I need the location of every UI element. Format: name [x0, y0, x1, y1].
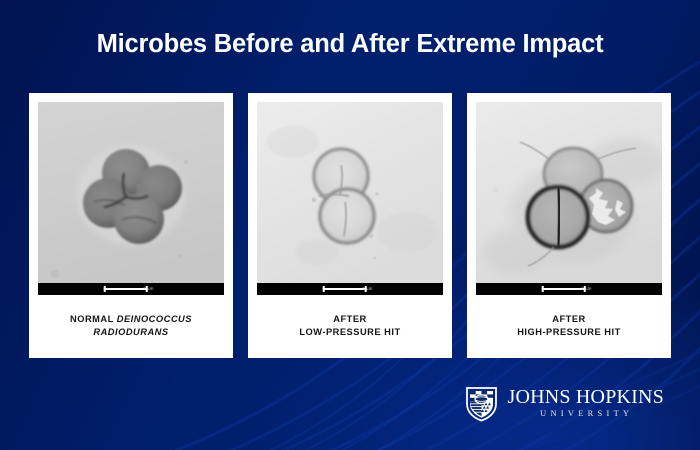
scalebar-normal: 1 µm: [38, 283, 224, 295]
jhu-shield-crest-icon: [465, 385, 498, 422]
caption-line-2: HIGH-PRESSURE HIT: [517, 326, 621, 339]
jhu-logo-wordmark: JOHNS HOPKINS UNIVERSITY: [507, 387, 664, 420]
caption-prefix: NORMAL: [70, 314, 117, 324]
caption-line-2: LOW-PRESSURE HIT: [299, 326, 400, 339]
micrograph-normal: [38, 102, 224, 283]
page-title: Microbes Before and After Extreme Impact: [0, 30, 700, 59]
micrograph-low-pressure: [257, 102, 443, 283]
caption-line-2: RADIODURANS: [93, 326, 168, 339]
panel-high-pressure[interactable]: 1 µm AFTER HIGH-PRESSURE HIT: [467, 93, 671, 358]
jhu-logo: JOHNS HOPKINS UNIVERSITY: [465, 385, 664, 422]
panel-row: 1 µm NORMAL DEINOCOCCUS RADIODURANS: [29, 93, 671, 358]
panel-normal[interactable]: 1 µm NORMAL DEINOCOCCUS RADIODURANS: [29, 93, 233, 358]
scalebar-label: 1 µm: [143, 285, 154, 293]
micrograph-high-pressure: [476, 102, 662, 283]
scalebar-low-pressure: 1 µm: [257, 283, 443, 295]
caption-normal: NORMAL DEINOCOCCUS RADIODURANS: [38, 295, 224, 358]
scalebar-line: [323, 288, 367, 290]
jhu-logo-name: JOHNS HOPKINS: [507, 387, 664, 407]
caption-genus: DEINOCOCCUS: [117, 314, 192, 324]
caption-line-1: AFTER: [552, 313, 586, 326]
caption-line-1: AFTER: [333, 313, 367, 326]
scalebar-line: [542, 288, 586, 290]
scalebar-label: 1 µm: [362, 285, 373, 293]
scalebar-label: 1 µm: [581, 285, 592, 293]
scalebar-line: [104, 288, 148, 290]
scalebar-high-pressure: 1 µm: [476, 283, 662, 295]
jhu-logo-subtitle: UNIVERSITY: [509, 407, 664, 420]
caption-low-pressure: AFTER LOW-PRESSURE HIT: [257, 295, 443, 358]
caption-high-pressure: AFTER HIGH-PRESSURE HIT: [476, 295, 662, 358]
caption-line-1: NORMAL DEINOCOCCUS: [70, 313, 192, 326]
panel-low-pressure[interactable]: 1 µm AFTER LOW-PRESSURE HIT: [248, 93, 452, 358]
